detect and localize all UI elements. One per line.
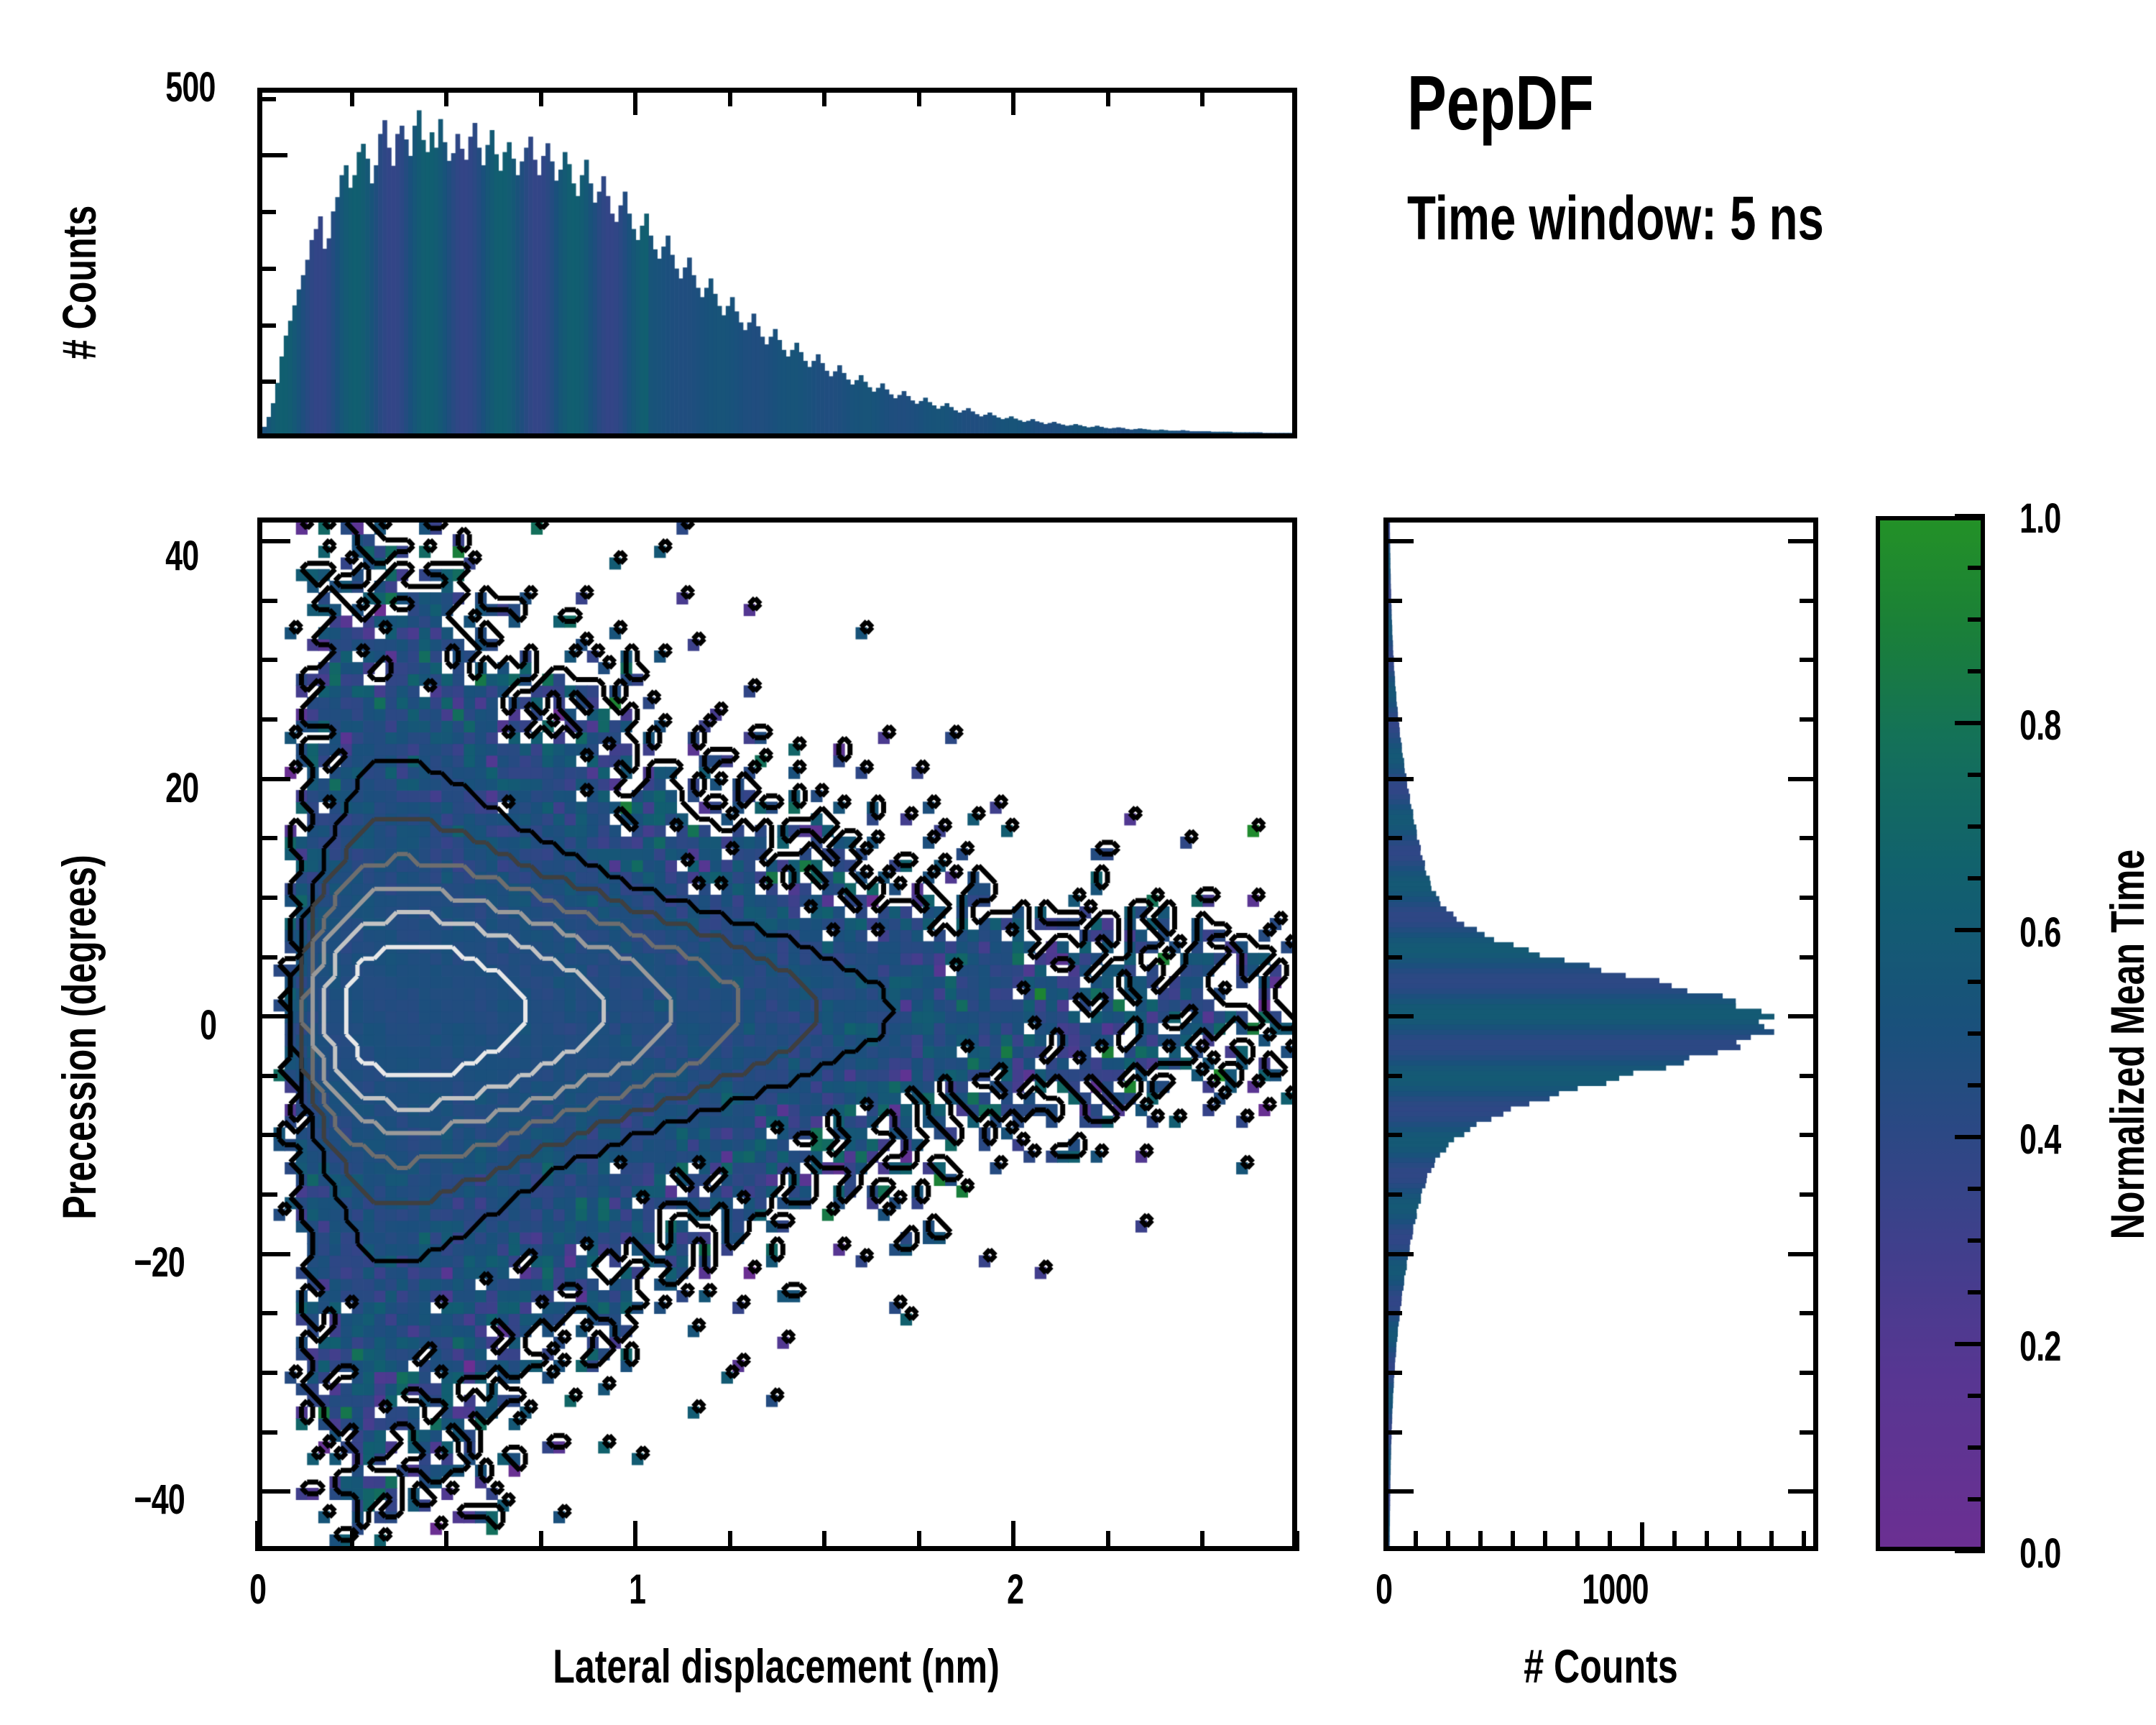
right-xtick-1000: 1000 <box>1582 1565 1649 1614</box>
axis-tick <box>1383 1074 1402 1078</box>
axis-tick <box>1769 1531 1774 1551</box>
right-xtick-0: 0 <box>1376 1565 1392 1614</box>
top-ytick-500: 500 <box>165 63 215 111</box>
axis-tick <box>1383 1371 1402 1375</box>
colorbar-tick-0-8: 0.8 <box>2019 701 2060 750</box>
axis-tick <box>1383 658 1402 662</box>
right-histogram-panel <box>1383 517 1818 1551</box>
figure-root: 500 # Counts 40 20 0 −20 −40 0 1 2 Later… <box>0 0 2156 1725</box>
axis-tick <box>1383 1014 1414 1018</box>
axis-tick <box>1955 1342 1985 1346</box>
axis-tick <box>1800 955 1818 960</box>
axis-tick <box>1446 1531 1450 1551</box>
top-histogram-panel <box>257 88 1297 438</box>
axis-tick <box>257 1489 290 1494</box>
axis-tick <box>1800 1074 1818 1078</box>
axis-tick <box>1383 1192 1402 1197</box>
axis-tick <box>1968 1238 1985 1243</box>
axis-tick <box>257 539 290 543</box>
axis-tick <box>1543 1531 1547 1551</box>
axis-tick <box>1705 1531 1709 1551</box>
axis-tick <box>257 955 277 960</box>
axis-tick <box>1800 1371 1818 1375</box>
colorbar-tick-0-0: 0.0 <box>2019 1529 2060 1578</box>
axis-tick <box>1955 1549 1985 1553</box>
axis-tick <box>822 1531 826 1551</box>
main-panel-xlabel: Lateral displacement (nm) <box>367 1639 1186 1693</box>
axis-tick <box>257 658 277 662</box>
axis-tick <box>1955 721 1985 725</box>
axis-tick <box>1383 1133 1402 1137</box>
axis-tick <box>257 1371 277 1375</box>
axis-tick <box>1511 1531 1515 1551</box>
axis-tick <box>539 88 543 106</box>
axis-tick <box>257 717 277 722</box>
axis-tick <box>1955 514 1985 518</box>
axis-tick <box>1608 1531 1612 1551</box>
axis-tick <box>257 1074 277 1078</box>
axis-tick <box>1788 777 1818 781</box>
figure-subtitle: Time window: 5 ns <box>1407 183 1824 254</box>
main-xtick-2: 2 <box>1007 1565 1023 1614</box>
main-ytick-40: 40 <box>165 532 198 580</box>
axis-tick <box>1788 1489 1818 1494</box>
axis-tick <box>257 1133 277 1137</box>
axis-tick <box>257 379 276 384</box>
colorbar-tick-0-6: 0.6 <box>2019 908 2060 957</box>
main-ytick-20: 20 <box>165 764 198 812</box>
main-ytick-neg20: −20 <box>134 1238 185 1287</box>
colorbar-tick-0-2: 0.2 <box>2019 1322 2060 1371</box>
axis-tick <box>1414 1531 1418 1551</box>
axis-tick <box>1672 1531 1677 1551</box>
axis-tick <box>1968 1135 1985 1139</box>
axis-tick <box>1802 1531 1806 1551</box>
top-histogram-canvas <box>262 93 1292 433</box>
axis-tick <box>1478 1531 1483 1551</box>
main-panel-ylabel: Precession (degrees) <box>52 644 106 1430</box>
axis-tick <box>1011 1521 1015 1551</box>
axis-tick <box>1383 777 1414 781</box>
axis-tick <box>728 1531 732 1551</box>
axis-tick <box>1106 1531 1110 1551</box>
axis-tick <box>1968 1497 1985 1501</box>
main-joint-panel <box>257 517 1297 1551</box>
axis-tick <box>1800 1192 1818 1197</box>
axis-tick <box>633 1521 637 1551</box>
top-panel-ylabel: # Counts <box>52 195 106 369</box>
axis-tick <box>444 88 448 106</box>
axis-tick <box>257 1252 290 1256</box>
joint-density-canvas <box>262 523 1292 1546</box>
axis-tick <box>350 88 354 106</box>
axis-tick <box>1800 1430 1818 1435</box>
axis-tick <box>1106 88 1110 106</box>
axis-tick <box>257 267 276 271</box>
axis-tick <box>1800 599 1818 603</box>
axis-tick <box>257 1311 277 1315</box>
axis-tick <box>1968 566 1985 570</box>
axis-tick <box>257 210 276 214</box>
axis-tick <box>1383 1531 1388 1551</box>
colorbar-tick-0-4: 0.4 <box>2019 1115 2060 1164</box>
axis-tick <box>257 153 287 157</box>
axis-tick <box>917 1531 921 1551</box>
colorbar-label: Normalized Mean Time <box>2100 651 2155 1437</box>
axis-tick <box>1968 617 1985 622</box>
axis-tick <box>822 88 826 106</box>
axis-tick <box>444 1531 448 1551</box>
axis-tick <box>1800 717 1818 722</box>
axis-tick <box>1788 1014 1818 1018</box>
axis-tick <box>1968 1290 1985 1294</box>
axis-tick <box>1575 1531 1580 1551</box>
axis-tick <box>1383 896 1402 900</box>
axis-tick <box>1968 824 1985 829</box>
axis-tick <box>1640 1522 1644 1551</box>
axis-tick <box>1968 1083 1985 1087</box>
axis-tick <box>1383 539 1414 543</box>
axis-tick <box>1968 980 1985 984</box>
axis-tick <box>728 88 732 106</box>
axis-tick <box>257 1430 277 1435</box>
right-histogram-canvas <box>1388 523 1813 1546</box>
axis-tick <box>633 88 637 115</box>
axis-tick <box>1800 836 1818 840</box>
right-panel-xlabel: # Counts <box>1436 1639 1766 1693</box>
axis-tick <box>1383 717 1402 722</box>
axis-tick <box>1737 1531 1741 1551</box>
axis-tick <box>1968 1031 1985 1036</box>
axis-tick <box>1968 669 1985 673</box>
main-ytick-0: 0 <box>200 1001 216 1049</box>
axis-tick <box>1200 88 1204 106</box>
axis-tick <box>1383 1430 1402 1435</box>
axis-tick <box>257 836 277 840</box>
axis-tick <box>1788 1252 1818 1256</box>
axis-tick <box>1383 955 1402 960</box>
axis-tick <box>1200 1531 1204 1551</box>
axis-tick <box>1788 539 1818 543</box>
axis-tick <box>1011 88 1015 115</box>
colorbar-gradient <box>1880 520 1981 1547</box>
main-xtick-0: 0 <box>249 1565 266 1614</box>
axis-tick <box>257 599 277 603</box>
axis-tick <box>1968 1187 1985 1191</box>
main-xtick-1: 1 <box>629 1565 645 1614</box>
axis-tick <box>1800 1311 1818 1315</box>
axis-tick <box>257 1192 277 1197</box>
axis-tick <box>257 896 277 900</box>
axis-tick <box>1800 1133 1818 1137</box>
axis-tick <box>257 97 276 101</box>
axis-tick <box>1383 599 1402 603</box>
axis-tick <box>1800 658 1818 662</box>
axis-tick <box>1968 876 1985 880</box>
axis-tick <box>257 1014 290 1018</box>
axis-tick <box>1955 928 1985 932</box>
axis-tick <box>1968 1394 1985 1398</box>
axis-tick <box>1800 896 1818 900</box>
axis-tick <box>1383 1489 1414 1494</box>
main-ytick-neg40: −40 <box>134 1476 185 1524</box>
figure-title: PepDF <box>1407 57 1594 147</box>
axis-tick <box>350 1531 354 1551</box>
axis-tick <box>1383 1311 1402 1315</box>
axis-tick <box>257 323 276 328</box>
axis-tick <box>539 1531 543 1551</box>
axis-tick <box>255 1521 259 1551</box>
axis-tick <box>257 777 290 781</box>
axis-tick <box>1968 773 1985 777</box>
axis-tick <box>1383 1252 1414 1256</box>
axis-tick <box>917 88 921 106</box>
axis-tick <box>1383 836 1402 840</box>
axis-tick <box>1295 1531 1299 1551</box>
colorbar-tick-1-0: 1.0 <box>2019 494 2060 543</box>
axis-tick <box>1968 1445 1985 1450</box>
